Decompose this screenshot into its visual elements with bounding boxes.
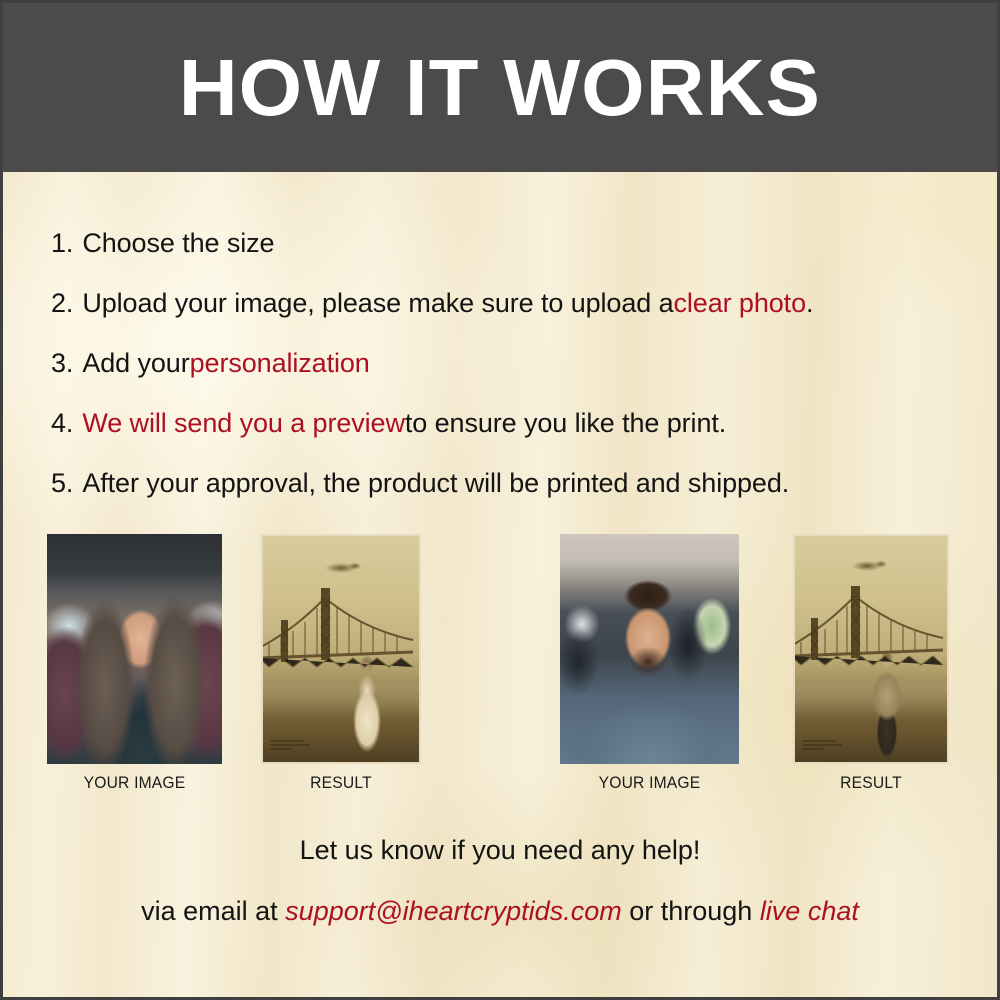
example-caption-4: RESULT <box>799 773 943 793</box>
header-banner: HOW IT WORKS <box>3 3 997 172</box>
result-vintage-bridge-woman <box>261 534 421 764</box>
step-item: 5.After your approval, the product will … <box>51 453 971 513</box>
example-caption-1: YOUR IMAGE <box>54 773 215 793</box>
example-caption-2: RESULT <box>267 773 414 793</box>
result-vintage-bridge-man <box>793 534 949 764</box>
vintage-print-handwriting <box>802 740 842 752</box>
step-number: 4. <box>51 410 73 437</box>
step-text-highlight: clear photo <box>674 290 807 317</box>
how-it-works-infographic: HOW IT WORKS 1.Choose the size 2.Upload … <box>0 0 1000 1000</box>
help-message: Let us know if you need any help! <box>3 835 997 866</box>
page-title: HOW IT WORKS <box>179 48 821 128</box>
live-chat-link[interactable]: live chat <box>760 896 859 926</box>
step-text: Choose the size <box>82 230 274 257</box>
contact-line: via email at support@iheartcryptids.com … <box>3 896 997 927</box>
step-item: 2.Upload your image, please make sure to… <box>51 273 971 333</box>
customer-photo-man-car-selfie <box>560 534 739 764</box>
step-text-highlight: personalization <box>190 350 370 377</box>
step-text: After your approval, the product will be… <box>82 470 789 497</box>
step-text: to ensure you like the print. <box>405 410 726 437</box>
step-number: 1. <box>51 230 73 257</box>
step-item: 3.Add your personalization <box>51 333 971 393</box>
step-text: Upload your image, please make sure to u… <box>82 290 673 317</box>
customer-photo-woman-car-selfie <box>47 534 222 764</box>
suspension-bridge-illustration <box>263 536 419 762</box>
step-text: Add your <box>82 350 189 377</box>
step-item: 4.We will send you a preview to ensure y… <box>51 393 971 453</box>
support-email[interactable]: support@iheartcryptids.com <box>285 896 622 926</box>
suspension-bridge-illustration <box>795 536 947 762</box>
contact-prefix: via email at <box>141 896 285 926</box>
example-caption-3: YOUR IMAGE <box>567 773 732 793</box>
step-number: 3. <box>51 350 73 377</box>
step-text: . <box>806 290 813 317</box>
step-item: 1.Choose the size <box>51 213 971 273</box>
vintage-print-handwriting <box>270 740 310 752</box>
step-number: 5. <box>51 470 73 497</box>
step-text-highlight: We will send you a preview <box>82 410 405 437</box>
steps-list: 1.Choose the size 2.Upload your image, p… <box>51 213 971 513</box>
contact-middle: or through <box>622 896 760 926</box>
step-number: 2. <box>51 290 73 317</box>
